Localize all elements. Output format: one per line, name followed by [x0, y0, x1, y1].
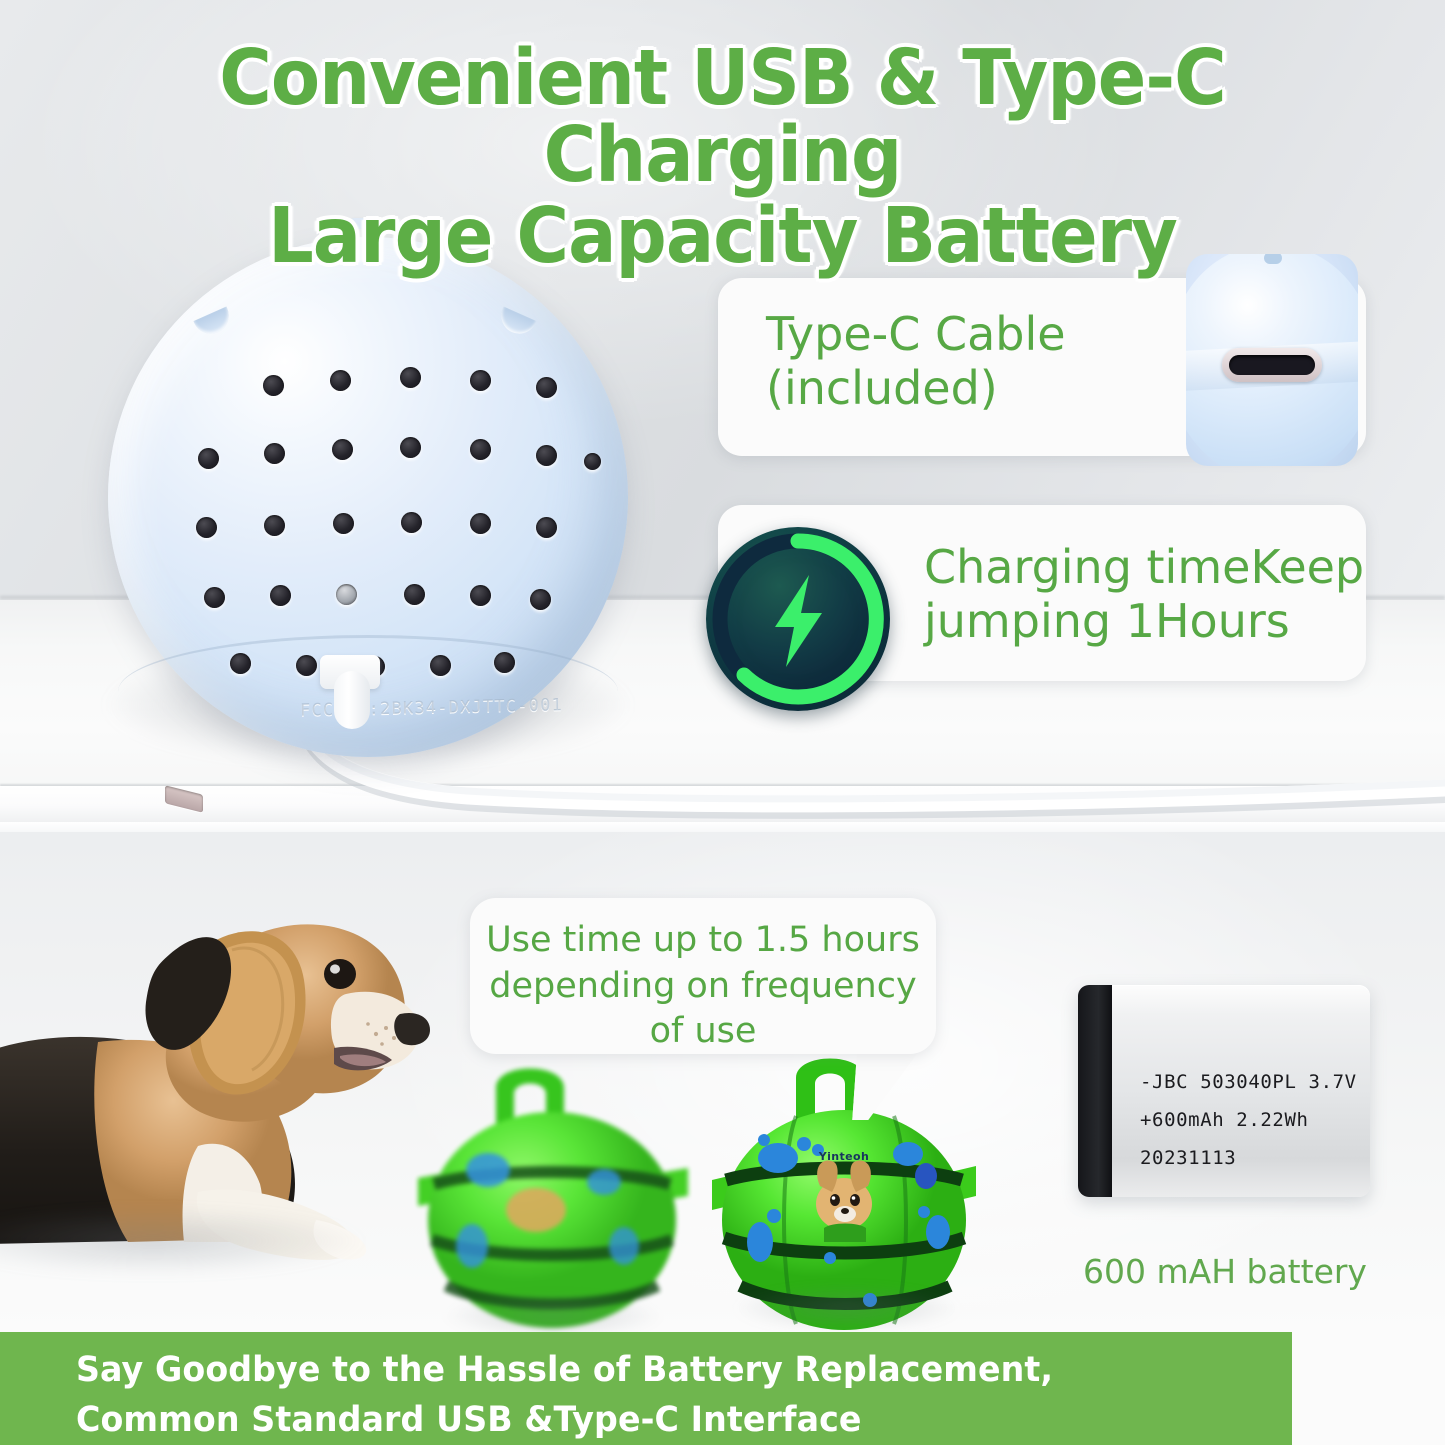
product-infographic: FCC ID:2BK34-DXJTTC-001 Type-C Cable (in…: [0, 0, 1445, 1445]
type-c-cable-card: Type-C Cable (included): [718, 278, 1366, 456]
device-side-port: [133, 735, 213, 795]
lipo-battery-photo: -JBC 503040PL 3.7V +600mAh 2.22Wh 202311…: [1078, 985, 1370, 1197]
toy-ball-focused: Yinteoh: [712, 1052, 976, 1332]
type-c-cable-card-text: Type-C Cable (included): [766, 308, 1066, 416]
bottom-green-banner: Say Goodbye to the Hassle of Battery Rep…: [0, 1332, 1292, 1445]
cable-plug-body: [334, 671, 370, 729]
battery-label-text: -JBC 503040PL 3.7V +600mAh 2.22Wh 202311…: [1140, 1063, 1370, 1177]
beagle-dog-photo: [0, 846, 468, 1276]
use-time-text: Use time up to 1.5 hours depending on fr…: [470, 918, 936, 1055]
toy-ball-blurred: [418, 1060, 688, 1332]
use-time-speech-bubble: Use time up to 1.5 hours depending on fr…: [470, 898, 936, 1054]
lightning-bolt-icon: [706, 527, 890, 711]
panel-divider: [0, 822, 1445, 832]
banner-text: Say Goodbye to the Hassle of Battery Rep…: [76, 1346, 1207, 1445]
battery-tab: [1078, 985, 1112, 1197]
svg-text:Yinteoh: Yinteoh: [818, 1150, 869, 1163]
banner-right-filler: [1292, 1332, 1445, 1445]
page-title: Convenient USB & Type-C Charging Large C…: [51, 40, 1395, 275]
charging-time-card-text: Charging timeKeep jumping 1Hours: [924, 541, 1364, 649]
top-panel: FCC ID:2BK34-DXJTTC-001 Type-C Cable (in…: [0, 0, 1445, 822]
battery-caption: 600 mAH battery: [1040, 1252, 1410, 1291]
charging-time-card: Charging timeKeep jumping 1Hours: [718, 505, 1366, 681]
charging-ball-device: FCC ID:2BK34-DXJTTC-001: [78, 215, 648, 755]
usb-c-port-photo-icon: [1186, 254, 1358, 466]
